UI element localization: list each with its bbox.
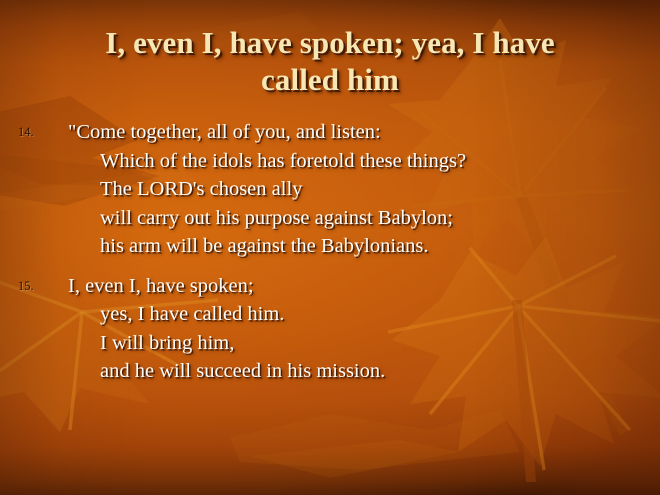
presentation-slide: I, even I, have spoken; yea, I have call… (0, 0, 660, 495)
verse-14-line-3: The LORD's chosen ally (68, 175, 660, 204)
verse-14-line-2: Which of the idols has foretold these th… (68, 147, 660, 176)
verse-block-14: 14. "Come together, all of you, and list… (0, 118, 660, 261)
verse-15-line-1: I, even I, have spoken; (68, 272, 660, 301)
slide-title: I, even I, have spoken; yea, I have call… (34, 24, 626, 98)
title-line-2: called him (34, 61, 626, 98)
verse-15-line-3: I will bring him, (68, 329, 660, 358)
verse-14-line-1: "Come together, all of you, and listen: (68, 118, 660, 147)
verse-14-line-5: his arm will be against the Babylonians. (68, 232, 660, 261)
slide-body: 14. "Come together, all of you, and list… (0, 118, 660, 386)
title-line-1: I, even I, have spoken; yea, I have (34, 24, 626, 61)
verse-14-line-4: will carry out his purpose against Babyl… (68, 204, 660, 233)
verse-15-line-2: yes, I have called him. (68, 300, 660, 329)
verse-block-15: 15. I, even I, have spoken; yes, I have … (0, 272, 660, 386)
verse-number-15: 15. (18, 279, 58, 293)
verse-number-14: 14. (18, 125, 58, 139)
verse-15-line-4: and he will succeed in his mission. (68, 357, 660, 386)
